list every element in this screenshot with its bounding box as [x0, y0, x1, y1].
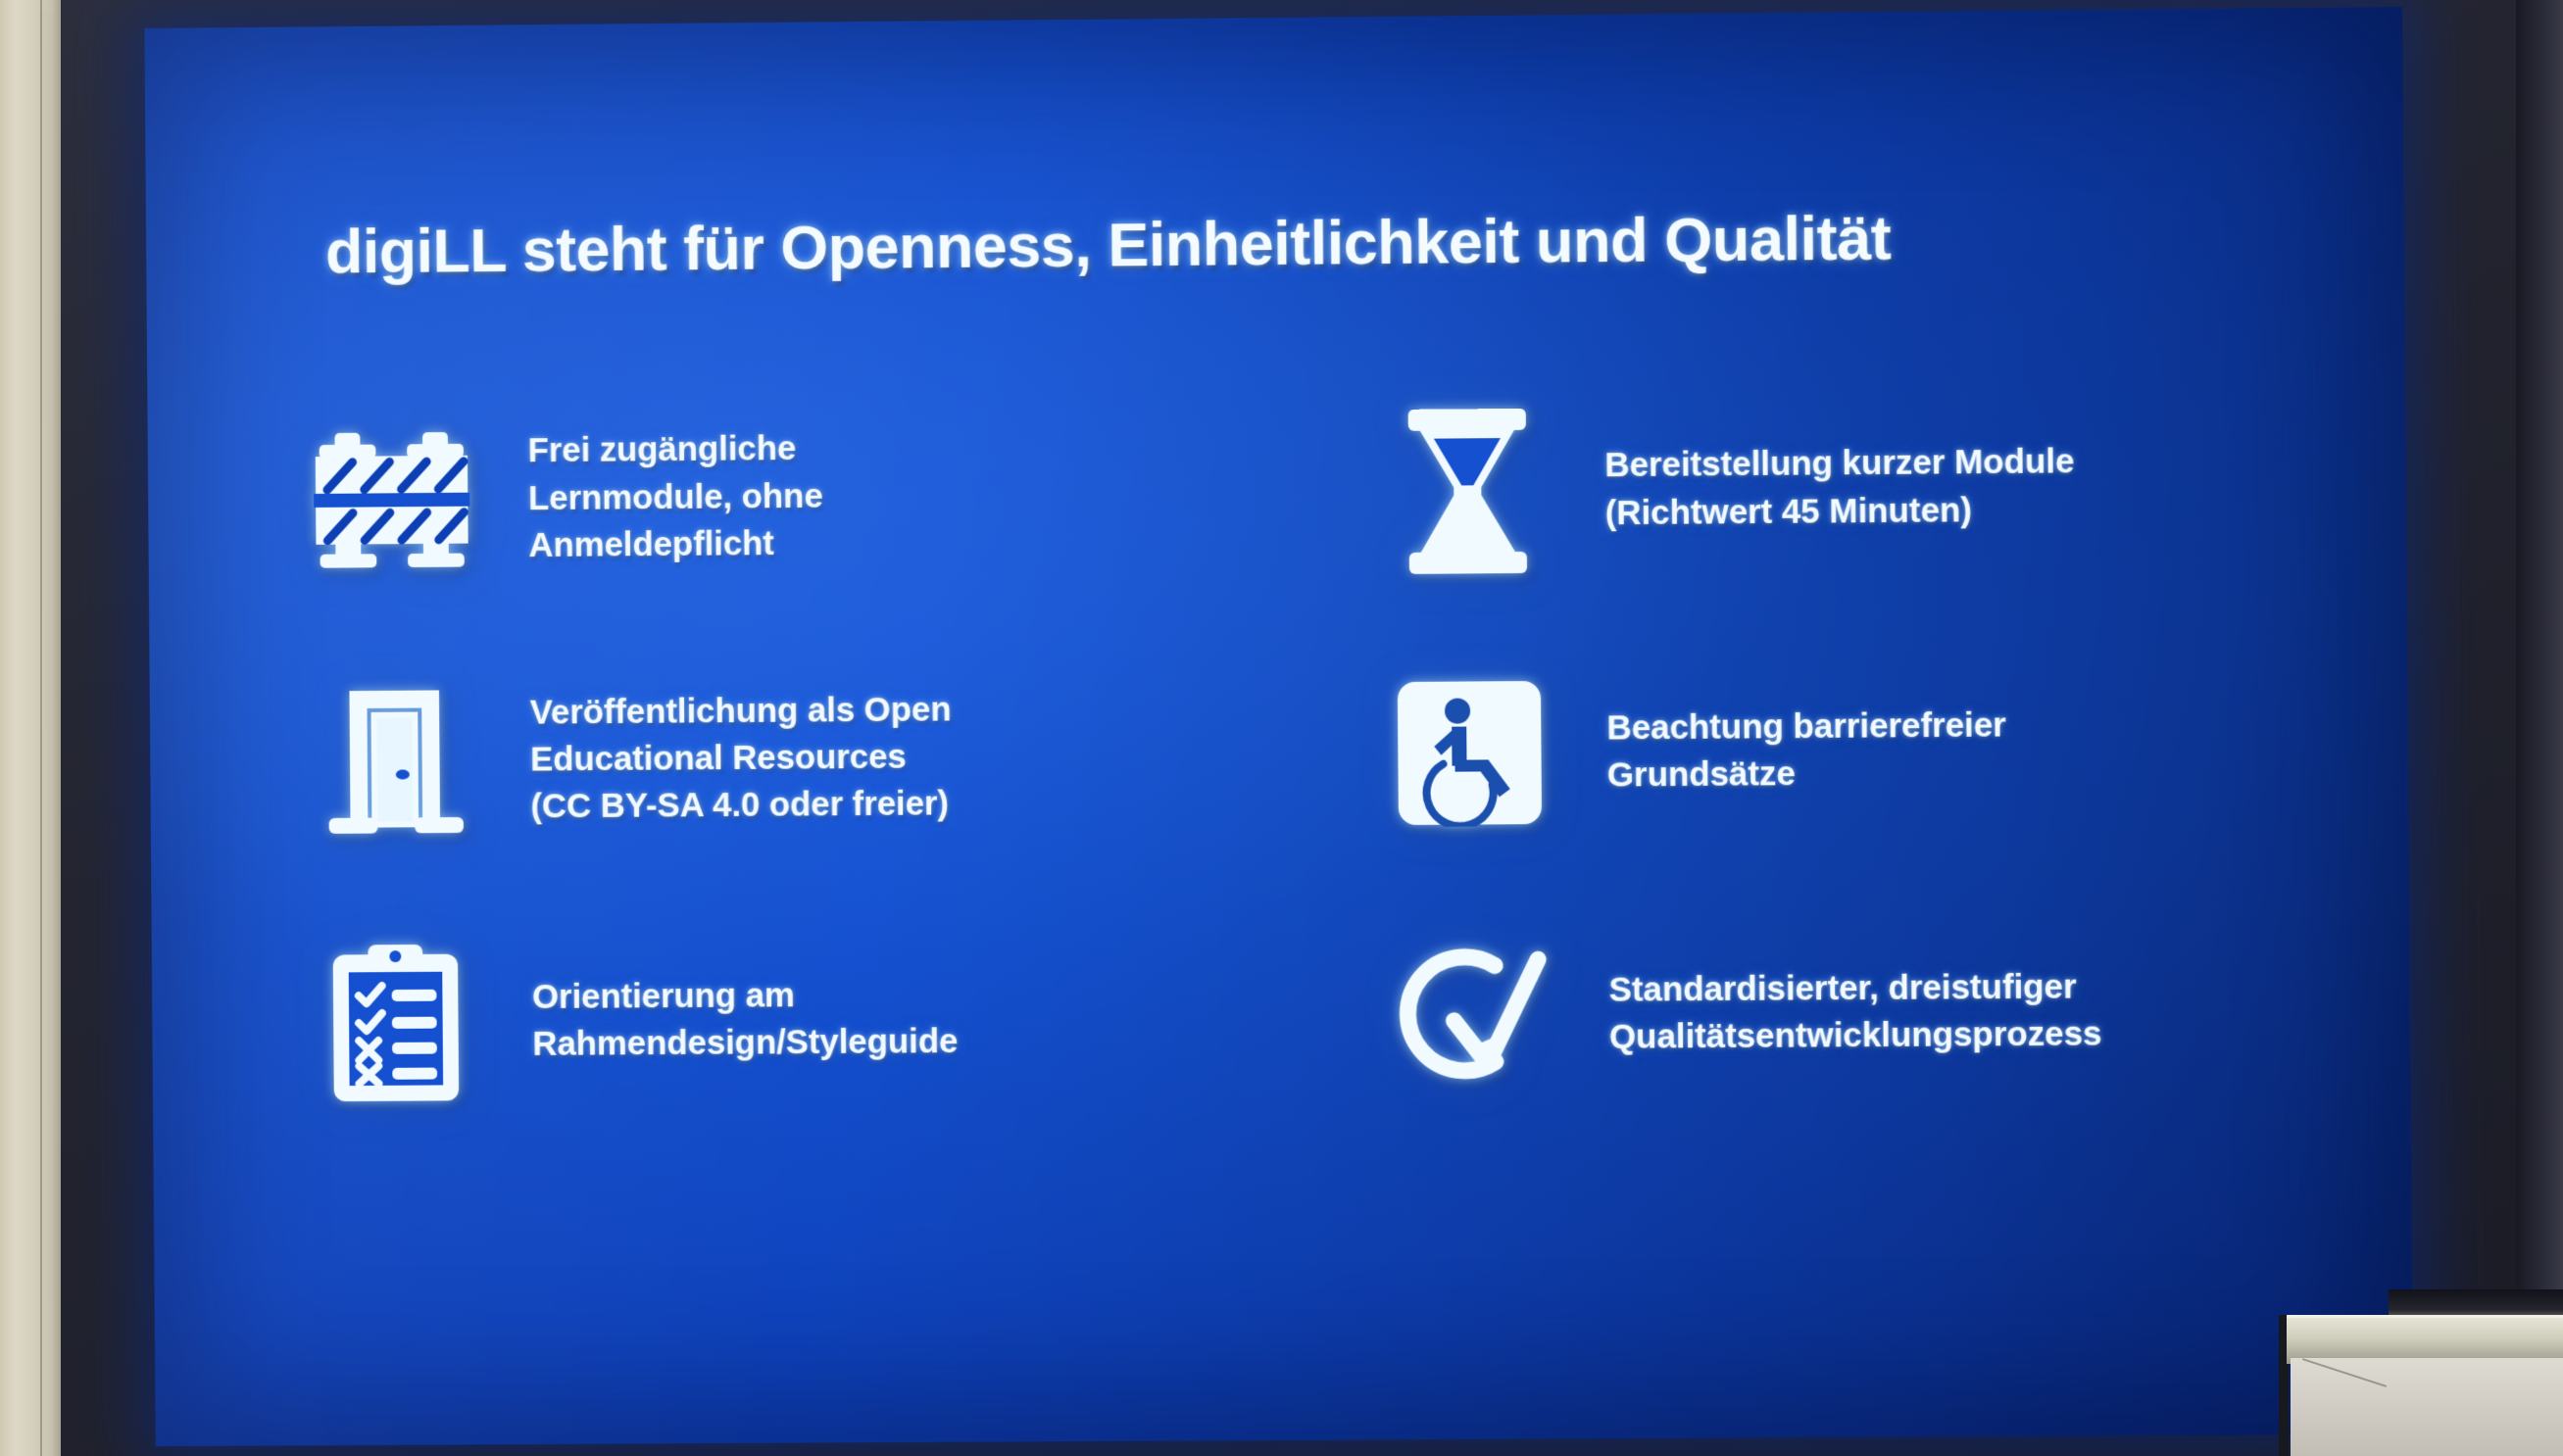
list-item-label: Standardisierter, dreistufiger Qualitäts…: [1608, 963, 2101, 1061]
list-item-label: Orientierung am Rahmendesign/Styleguide: [532, 971, 959, 1068]
wall-seam: [40, 0, 42, 1456]
list-item-line: (CC BY-SA 4.0 oder freier): [530, 781, 952, 831]
wheelchair-accessibility-icon: [1371, 659, 1569, 848]
list-item-label: Veröffentlichung als Open Educational Re…: [530, 686, 953, 831]
bullet-grid: Frei zugängliche Lernmodule, ohne Anmeld…: [293, 354, 2318, 1152]
presentation-slide: digiLL steht für Openness, Einheitlichke…: [144, 7, 2413, 1446]
clipboard-checklist-icon: [298, 929, 494, 1116]
list-item-label: Frei zugängliche Lernmodule, ohne Anmeld…: [527, 425, 823, 569]
list-item-line: (Richtwert 45 Minuten): [1605, 486, 2075, 537]
list-item-line: Veröffentlichung als Open: [530, 686, 952, 736]
list-item: Beachtung barrierefreier Grundsätze: [1335, 616, 2316, 884]
list-item-line: Beachtung barrierefreier: [1606, 702, 2006, 752]
flipchart-paper: [2291, 1358, 2563, 1456]
list-item-line: Bereitstellung kurzer Module: [1604, 439, 2074, 490]
projection-screen-bezel: digiLL steht für Openness, Einheitlichke…: [61, 0, 2516, 1456]
page-title: digiLL steht für Openness, Einheitlichke…: [325, 201, 2287, 287]
road-barrier-icon: [294, 406, 490, 593]
list-item: Standardisierter, dreistufiger Qualitäts…: [1337, 879, 2318, 1145]
list-item-line: Orientierung am: [532, 971, 958, 1021]
hourglass-icon: [1369, 397, 1567, 585]
list-item-label: Bereitstellung kurzer Module (Richtwert …: [1604, 439, 2075, 538]
room-wall-right: [2512, 0, 2563, 1456]
list-item-line: Lernmodule, ohne: [528, 472, 823, 522]
flipchart-rail: [2287, 1315, 2563, 1364]
list-item-line: Qualitätsentwicklungsprozess: [1609, 1011, 2102, 1062]
list-item-line: Grundsätze: [1607, 749, 2007, 799]
list-item: Frei zugängliche Lernmodule, ohne Anmeld…: [293, 363, 1268, 630]
room-wall-left: [0, 0, 61, 1456]
list-item: Orientierung am Rahmendesign/Styleguide: [297, 887, 1272, 1153]
flipchart-easel: [2279, 1289, 2563, 1456]
photo-scene: digiLL steht für Openness, Einheitlichke…: [0, 0, 2563, 1456]
list-item-line: Frei zugängliche: [527, 425, 822, 475]
list-item: Bereitstellung kurzer Module (Richtwert …: [1333, 354, 2314, 622]
list-item-line: Educational Resources: [530, 733, 952, 783]
list-item-line: Anmeldepflicht: [528, 520, 823, 570]
list-item-line: Rahmendesign/Styleguide: [532, 1018, 958, 1068]
cycle-checkmark-icon: [1373, 921, 1571, 1108]
open-door-icon: [296, 667, 492, 854]
list-item: Veröffentlichung als Open Educational Re…: [295, 624, 1270, 891]
list-item-line: Standardisierter, dreistufiger: [1608, 963, 2101, 1014]
list-item-label: Beachtung barrierefreier Grundsätze: [1606, 702, 2006, 800]
